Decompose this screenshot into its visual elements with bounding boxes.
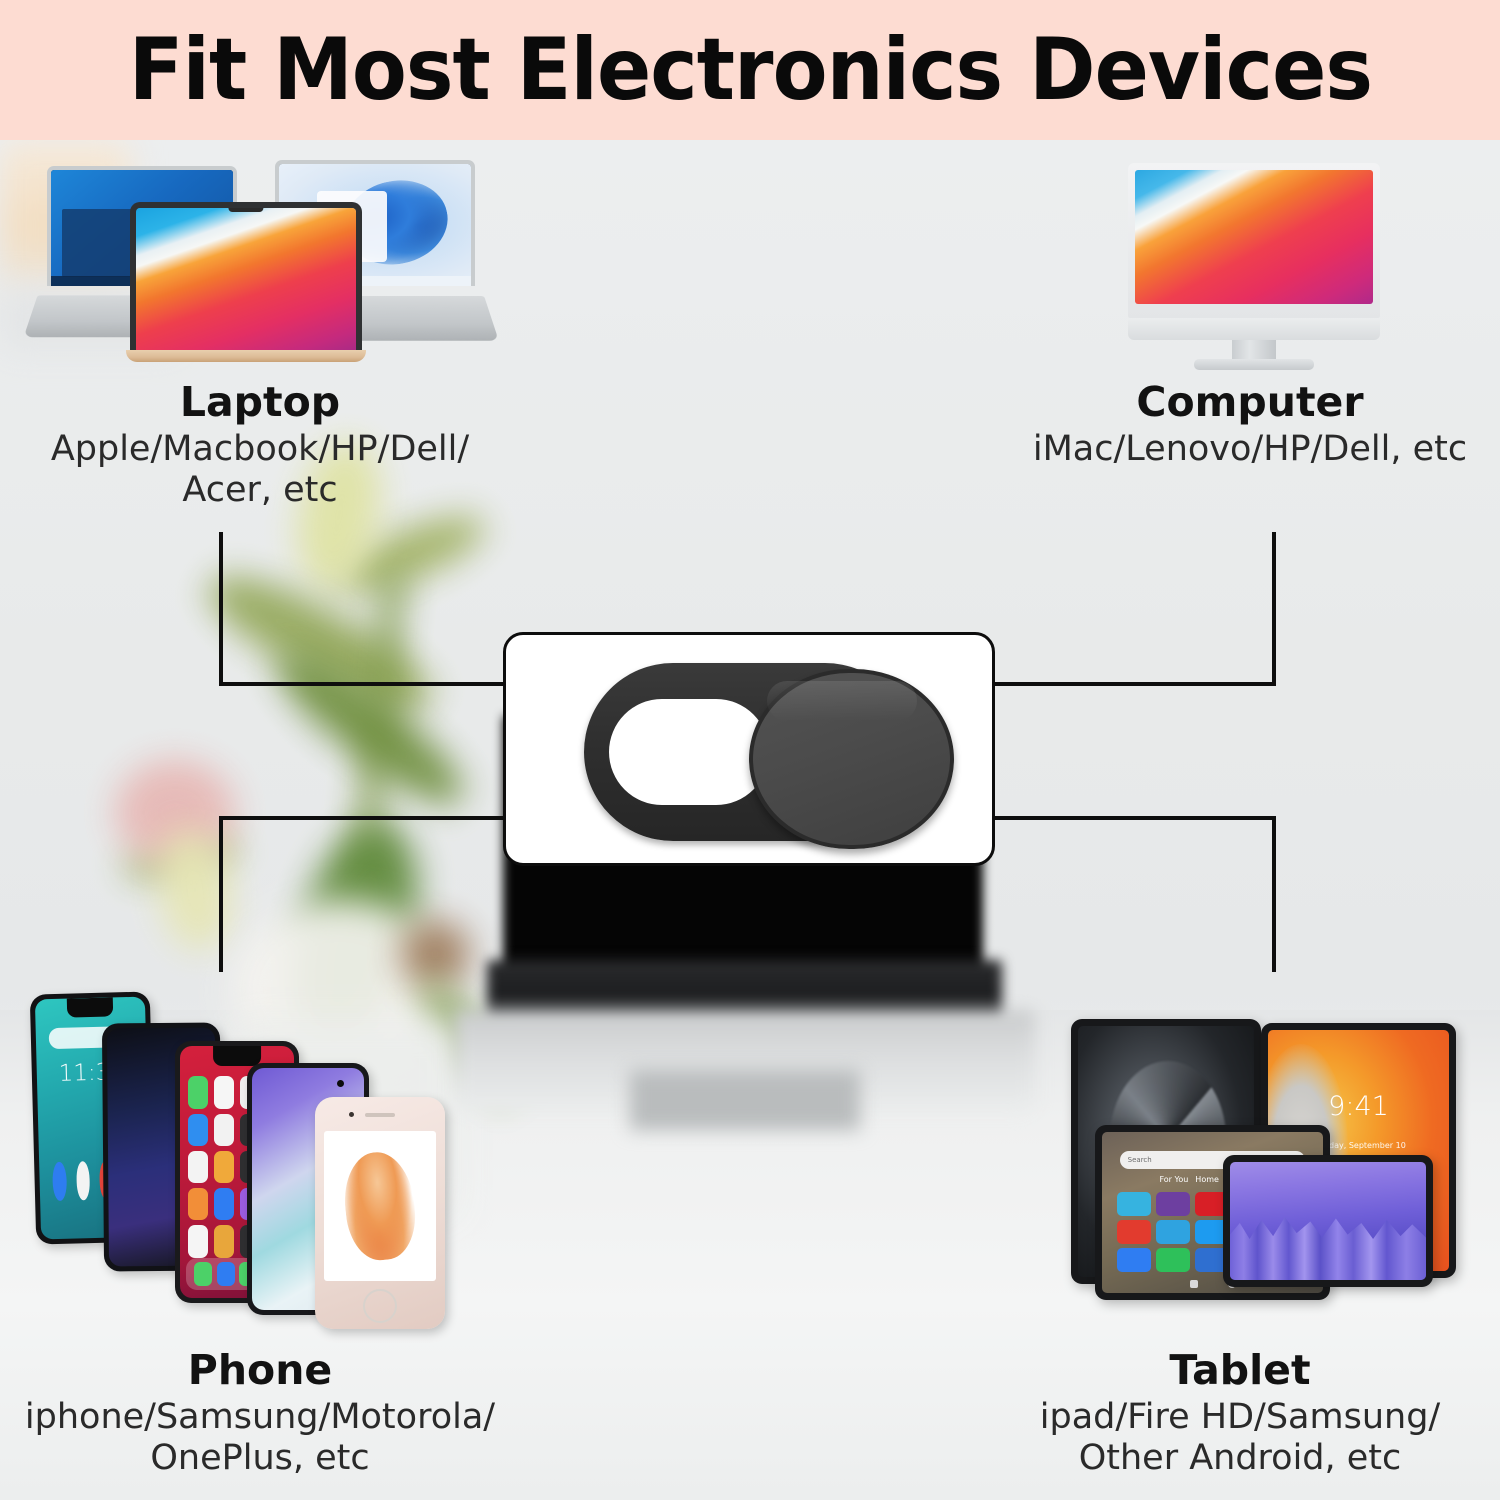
webcam-cover-aperture xyxy=(609,699,769,805)
connector-computer-horizontal xyxy=(990,682,1276,686)
iphone-6s-screen xyxy=(324,1131,436,1281)
title-banner: Fit Most Electronics Devices xyxy=(0,0,1500,140)
macbook-base xyxy=(126,350,366,362)
flower-center-icon xyxy=(400,920,470,988)
home-button[interactable] xyxy=(363,1289,397,1323)
ipad-lock-time: 9:41 xyxy=(1268,1093,1449,1120)
computer-label-block: Computer iMac/Lenovo/HP/Dell, etc xyxy=(1020,380,1480,470)
connector-laptop-horizontal xyxy=(219,682,509,686)
infographic-page: Fit Most Electronics Devices xyxy=(0,0,1500,1500)
laptop-device-cluster xyxy=(25,160,485,375)
laptop-label-brands: Apple/Macbook/HP/Dell/ Acer, etc xyxy=(25,429,495,512)
laptop-label-block: Laptop Apple/Macbook/HP/Dell/ Acer, etc xyxy=(25,380,495,512)
tablet-label-block: Tablet ipad/Fire HD/Samsung/ Other Andro… xyxy=(1005,1348,1475,1480)
tablet-label-brands: ipad/Fire HD/Samsung/ Other Android, etc xyxy=(1005,1397,1475,1480)
background-laptop-stand xyxy=(630,1070,860,1130)
imac-chin xyxy=(1128,318,1380,340)
fire-tab-home[interactable]: Home xyxy=(1195,1175,1219,1184)
webcam-cover-slider-knob[interactable] xyxy=(749,669,954,849)
imac-bezel xyxy=(1128,163,1380,318)
phone-label-block: Phone iphone/Samsung/Motorola/ OnePlus, … xyxy=(10,1348,510,1480)
phone-notch-icon xyxy=(67,997,114,1017)
connector-phone-horizontal xyxy=(219,816,509,820)
feather-wallpaper-icon xyxy=(340,1149,420,1264)
phone-device-cluster: 11:38 xyxy=(15,985,485,1335)
galaxy-tab-wallpaper-icon xyxy=(1230,1207,1426,1280)
macbook-camera-icon xyxy=(228,208,263,212)
iphone-6s-rose-gold xyxy=(315,1097,445,1329)
phone-label-title: Phone xyxy=(10,1348,510,1393)
imac-screen xyxy=(1135,170,1373,304)
imac-device xyxy=(1128,163,1413,368)
laptop-label-title: Laptop xyxy=(25,380,495,425)
front-camera-icon xyxy=(349,1112,354,1117)
fire-tab-for-you[interactable]: For You xyxy=(1159,1175,1188,1184)
tablet-device-cluster: 9:41 Tuesday, September 10 Search For Yo… xyxy=(1065,1005,1465,1325)
connector-tablet-horizontal xyxy=(990,816,1276,820)
webcam-cover-track xyxy=(584,663,914,841)
tablet-label-title: Tablet xyxy=(1005,1348,1475,1393)
computer-label-title: Computer xyxy=(1020,380,1480,425)
earpiece-icon xyxy=(365,1113,395,1117)
connector-tablet-vertical xyxy=(1272,816,1276,972)
phone-label-brands: iphone/Samsung/Motorola/ OnePlus, etc xyxy=(10,1397,510,1480)
phone-notch-icon xyxy=(213,1046,261,1066)
page-title: Fit Most Electronics Devices xyxy=(128,27,1371,113)
connector-laptop-vertical xyxy=(219,532,223,686)
samsung-galaxy-tab-a7 xyxy=(1223,1155,1433,1287)
imac-stand-foot xyxy=(1194,359,1314,370)
webcam-cover-product xyxy=(503,632,995,866)
macos-big-sur-wallpaper xyxy=(136,208,356,352)
computer-label-brands: iMac/Lenovo/HP/Dell, etc xyxy=(1020,429,1480,470)
connector-computer-vertical xyxy=(1272,532,1276,686)
connector-phone-vertical xyxy=(219,816,223,972)
punch-hole-camera-icon xyxy=(337,1080,344,1087)
